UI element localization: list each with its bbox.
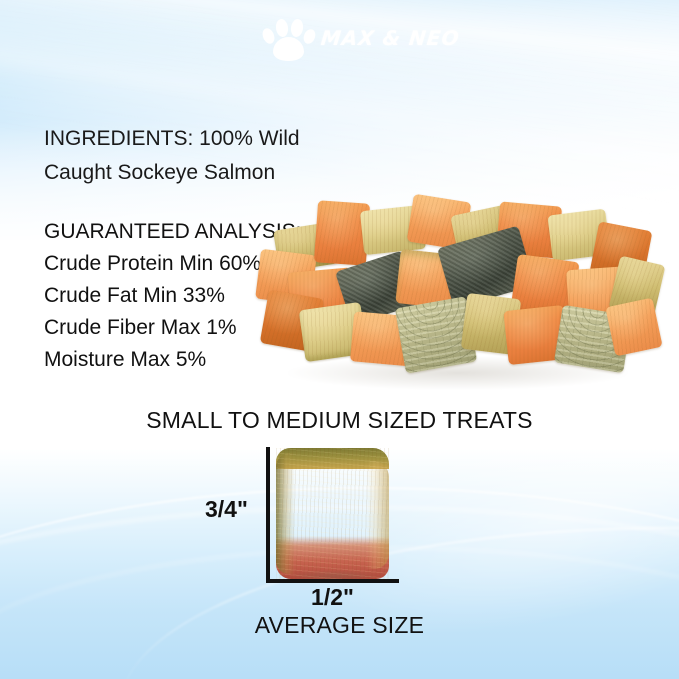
ingredients-line-2: Caught Sockeye Salmon [44,156,344,190]
ingredients-block: INGREDIENTS: 100% Wild Caught Sockeye Sa… [44,122,344,190]
brand-logo: MAX & NEO [262,14,432,62]
background-wave-3 [120,527,679,679]
brand-name: MAX & NEO [320,28,461,48]
paw-print-icon [262,15,316,61]
measurement-height-label: 3/4" [205,496,248,523]
sample-cube-texture [276,448,389,579]
treat-pile-image [258,186,658,398]
measurement-line-vertical [266,447,270,583]
treat-chunk [605,298,662,357]
average-size-caption: AVERAGE SIZE [0,612,679,639]
sample-treat-cube [276,448,389,579]
size-heading: SMALL TO MEDIUM SIZED TREATS [0,407,679,434]
ingredients-line-1: INGREDIENTS: 100% Wild [44,122,344,156]
product-infographic: MAX & NEO INGREDIENTS: 100% Wild Caught … [0,0,679,679]
measurement-line-horizontal [266,579,399,583]
measurement-width-label: 1/2" [266,584,399,611]
